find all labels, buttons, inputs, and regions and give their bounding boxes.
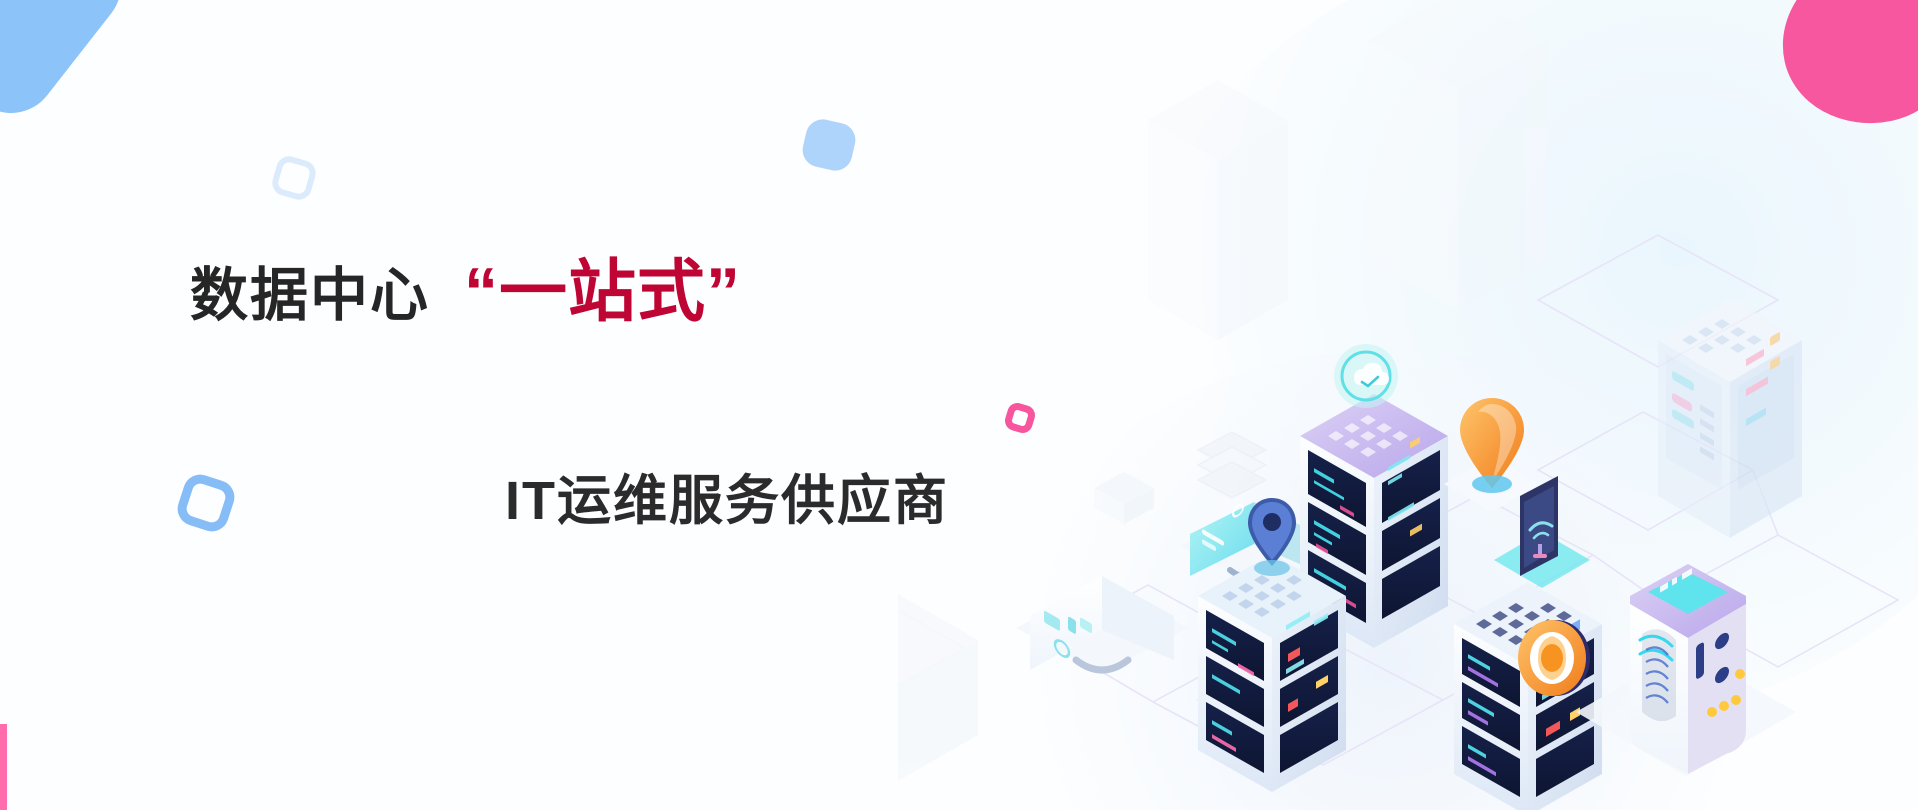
decor-square-outline-blue-small — [269, 153, 318, 202]
cloud-badge-icon — [1094, 472, 1154, 524]
isometric-illustration — [898, 0, 1918, 810]
headline-accent: “一站式” — [464, 236, 741, 335]
headline: 数据中心 “一站式” — [190, 236, 741, 335]
decor-square-filled-blue — [799, 116, 859, 174]
corner-blue-shape — [0, 0, 140, 132]
orange-ring-icon — [1518, 620, 1590, 696]
storage-stack-icon — [1198, 432, 1266, 498]
headline-prefix: 数据中心 — [190, 248, 430, 332]
subheadline: IT运维服务供应商 — [505, 456, 949, 535]
ghost-tower-group — [1148, 0, 1548, 340]
hero-banner: 数据中心 “一站式” IT运维服务供应商 — [0, 0, 1918, 810]
decor-square-outline-blue-large — [173, 470, 239, 536]
server-rack-front-right-icon — [1454, 582, 1602, 810]
server-rack-tall-far-right-icon — [1658, 298, 1802, 538]
security-appliance-icon — [1576, 564, 1796, 776]
ghost-cube-icon — [898, 594, 978, 781]
monitor-left-icon — [1016, 576, 1188, 673]
edge-pink-bar — [0, 724, 7, 810]
